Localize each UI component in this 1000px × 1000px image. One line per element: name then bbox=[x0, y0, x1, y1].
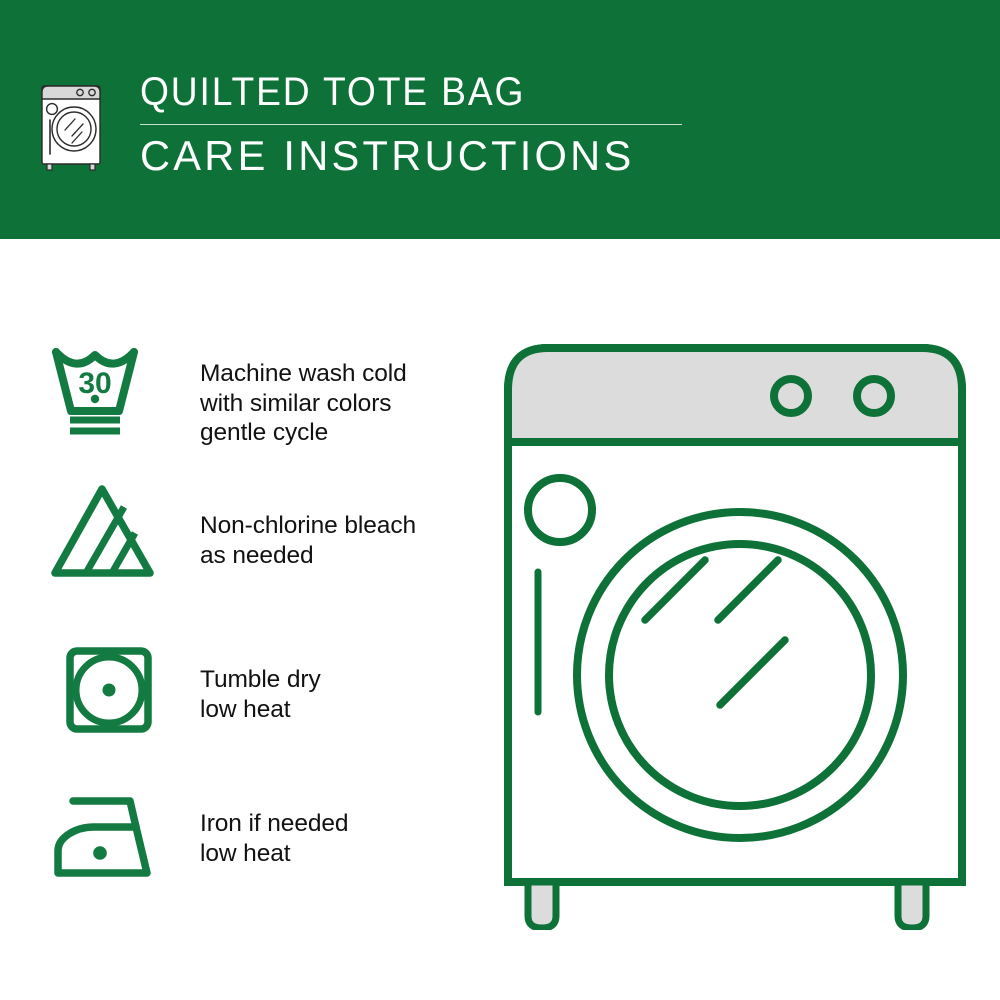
title-divider bbox=[140, 124, 682, 125]
leg-right bbox=[898, 882, 926, 928]
machine-wash-30-icon: 30 bbox=[50, 341, 160, 446]
care-row-label: Machine wash cold with similar colors ge… bbox=[200, 359, 407, 448]
header-title-block: QUILTED TOTE BAG CARE INSTRUCTIONS bbox=[140, 68, 700, 181]
care-row-label: Iron if needed low heat bbox=[200, 809, 348, 868]
header-banner: QUILTED TOTE BAG CARE INSTRUCTIONS bbox=[0, 0, 1000, 239]
front-load-washing-machine-illustration bbox=[490, 330, 980, 930]
iron-low-heat-icon bbox=[50, 787, 160, 892]
non-chlorine-bleach-triangle-icon bbox=[50, 481, 160, 586]
page-title-product: QUILTED TOTE BAG bbox=[140, 68, 661, 116]
page-title-care: CARE INSTRUCTIONS bbox=[140, 131, 694, 181]
care-row-label: Tumble dry low heat bbox=[200, 665, 321, 724]
tumble-dry-low-heat-icon bbox=[50, 639, 160, 744]
leg-left bbox=[528, 882, 556, 928]
care-row-label: Non-chlorine bleach as needed bbox=[200, 511, 416, 570]
washing-machine-icon bbox=[38, 66, 104, 172]
care-instruction-list: 30 Machine wash cold with similar colors… bbox=[0, 239, 480, 1000]
